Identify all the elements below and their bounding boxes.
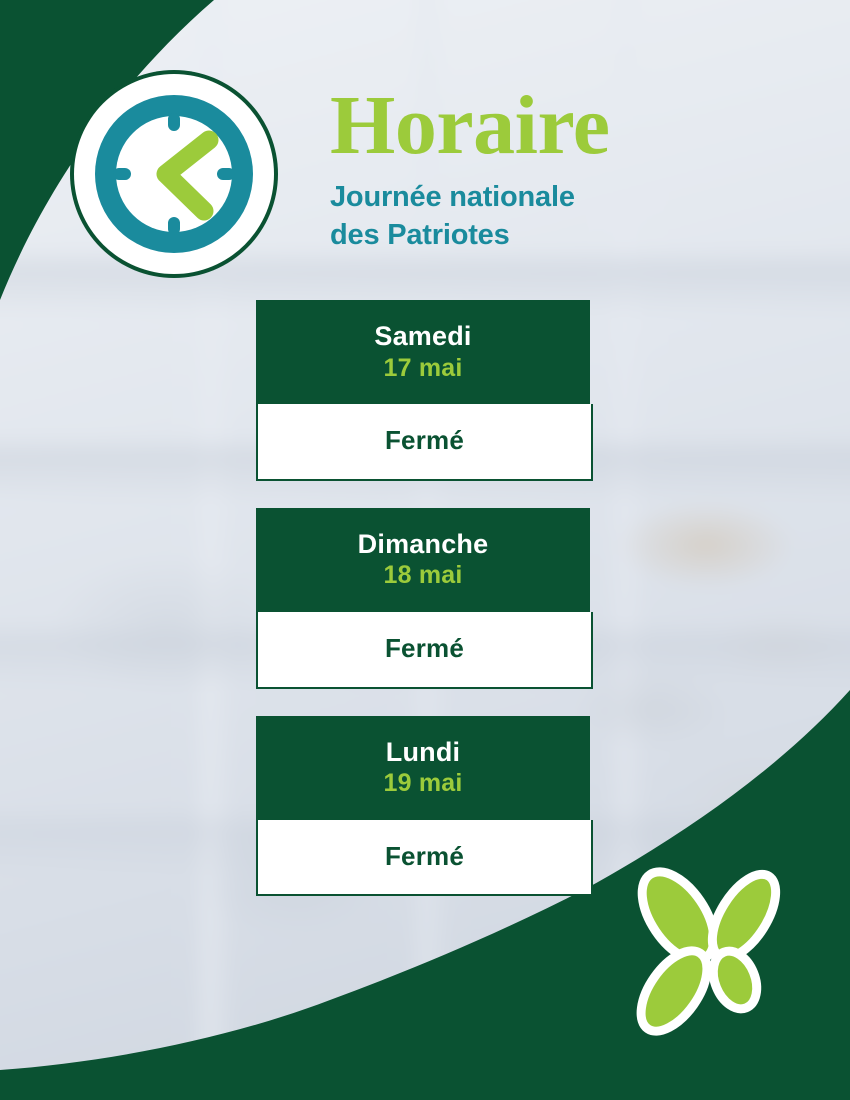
- schedule-card-header: Samedi 17 mai: [256, 300, 590, 404]
- schedule-day: Samedi: [266, 322, 580, 352]
- horaire-poster: Horaire Journée nationale des Patriotes …: [0, 0, 850, 1100]
- page-subtitle: Journée nationale des Patriotes: [330, 178, 750, 255]
- page-subtitle-line-2: des Patriotes: [330, 216, 750, 254]
- schedule-day: Lundi: [266, 738, 580, 768]
- butterfly-logo-icon: [612, 858, 808, 1054]
- poster-header: Horaire Journée nationale des Patriotes: [0, 0, 850, 300]
- schedule-card: Samedi 17 mai Fermé: [0, 300, 850, 481]
- schedule-card: Dimanche 18 mai Fermé: [0, 508, 850, 689]
- schedule-card-body: Fermé: [256, 612, 593, 689]
- schedule-date: 18 mai: [266, 559, 580, 592]
- schedule-card-header: Dimanche 18 mai: [256, 508, 590, 612]
- title-block: Horaire Journée nationale des Patriotes: [330, 86, 750, 254]
- schedule-card-header: Lundi 19 mai: [256, 716, 590, 820]
- status-badge: Fermé: [268, 842, 581, 871]
- schedule-card-body: Fermé: [256, 820, 593, 897]
- schedule-date: 17 mai: [266, 352, 580, 385]
- schedule-date: 19 mai: [266, 767, 580, 800]
- clock-icon: [68, 68, 280, 280]
- schedule-list: Samedi 17 mai Fermé Dimanche 18 mai Ferm…: [0, 300, 850, 923]
- schedule-day: Dimanche: [266, 530, 580, 560]
- status-badge: Fermé: [268, 426, 581, 455]
- page-subtitle-line-1: Journée nationale: [330, 178, 750, 216]
- page-title: Horaire: [330, 86, 750, 166]
- schedule-card-body: Fermé: [256, 404, 593, 481]
- status-badge: Fermé: [268, 634, 581, 663]
